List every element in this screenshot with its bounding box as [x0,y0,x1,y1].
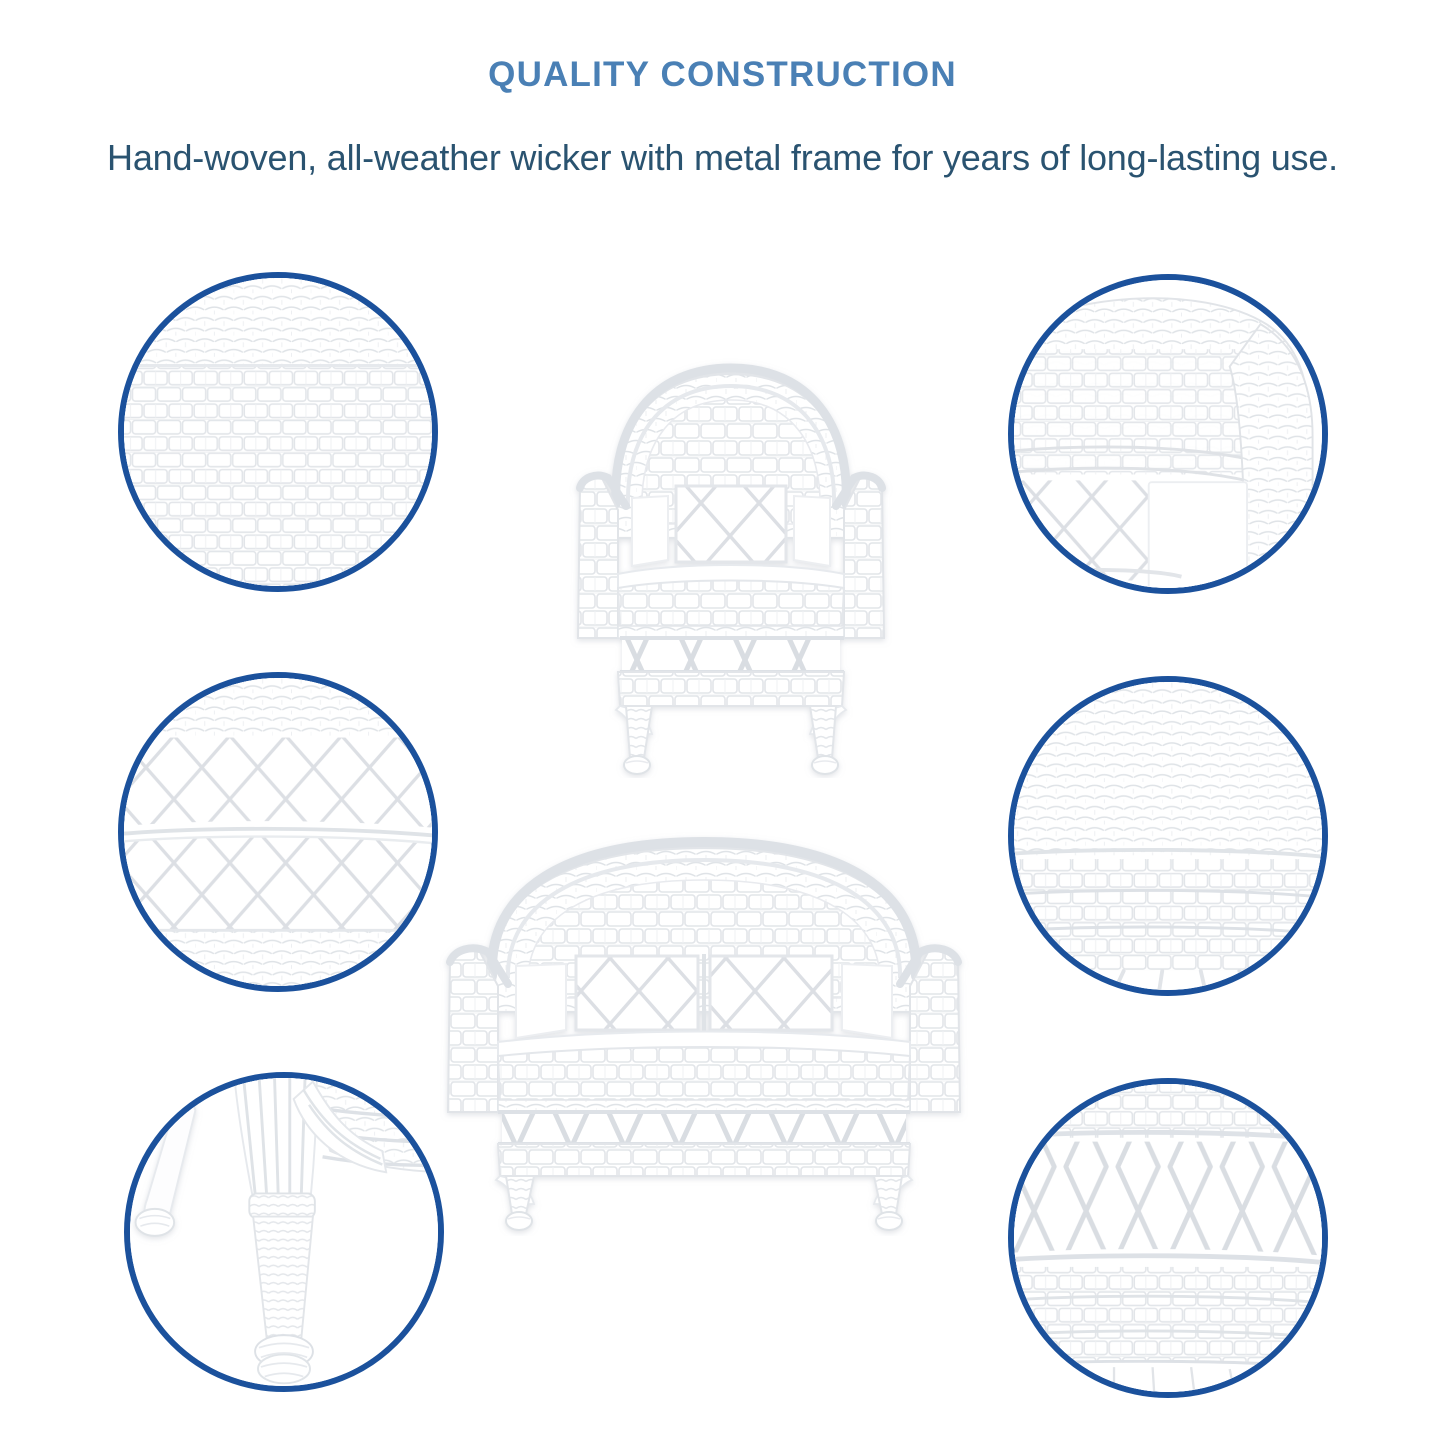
x-lattice-texture [1008,1078,1328,1398]
feature-stage [0,0,1445,1445]
tight-weave-texture [1008,676,1328,996]
product-image-white-wicker-loveseat [436,826,972,1236]
detail-circle-tight-weave [1008,676,1328,996]
diamond-lattice-texture [118,672,438,992]
wicker-leg-foot-texture [124,1072,444,1392]
chair-back-corner-texture [1008,274,1328,594]
detail-circle-diamond-lattice [118,672,438,992]
product-image-white-wicker-armchair [556,338,906,778]
detail-circle-x-lattice [1008,1078,1328,1398]
detail-circle-wicker-leg-foot [124,1072,444,1392]
basket-weave-texture [118,272,438,592]
detail-circle-flat-basket-weave [118,272,438,592]
detail-circle-chair-back-corner [1008,274,1328,594]
